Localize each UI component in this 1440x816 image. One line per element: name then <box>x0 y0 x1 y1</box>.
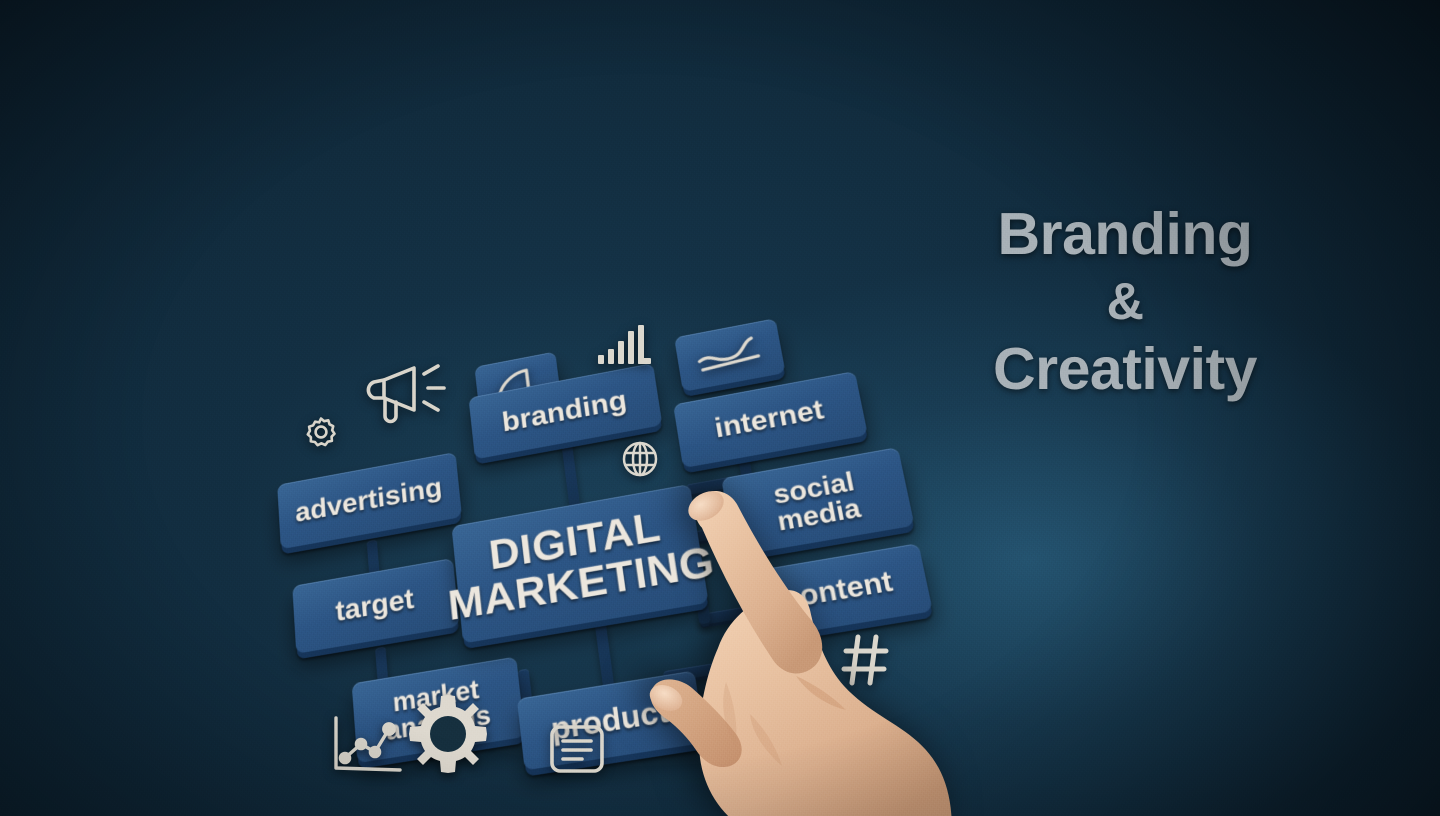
node-label: internet <box>713 396 826 444</box>
node-label: advertising <box>294 474 443 528</box>
page-title: Branding & Creativity <box>905 200 1345 404</box>
headline-line-2: & <box>905 269 1345 335</box>
trend-line-icon <box>691 332 768 379</box>
megaphone-icon <box>358 358 450 432</box>
line-graph-icon <box>328 712 406 778</box>
trend-line-tile[interactable] <box>674 318 785 392</box>
gear-icon <box>301 412 341 452</box>
hand-pointing-index-finger <box>600 470 1020 816</box>
document-icon <box>546 718 608 780</box>
node-target[interactable]: target <box>292 558 459 654</box>
node-advertising[interactable]: advertising <box>277 452 462 549</box>
gear-icon <box>406 692 490 776</box>
bar-chart-icon <box>596 322 654 366</box>
headline-line-1: Branding <box>905 200 1345 269</box>
node-label: target <box>334 585 415 627</box>
node-internet[interactable]: internet <box>673 371 868 468</box>
poster-canvas: advertising target market analysis brand… <box>0 0 1440 816</box>
headline-line-3: Creativity <box>905 335 1345 404</box>
